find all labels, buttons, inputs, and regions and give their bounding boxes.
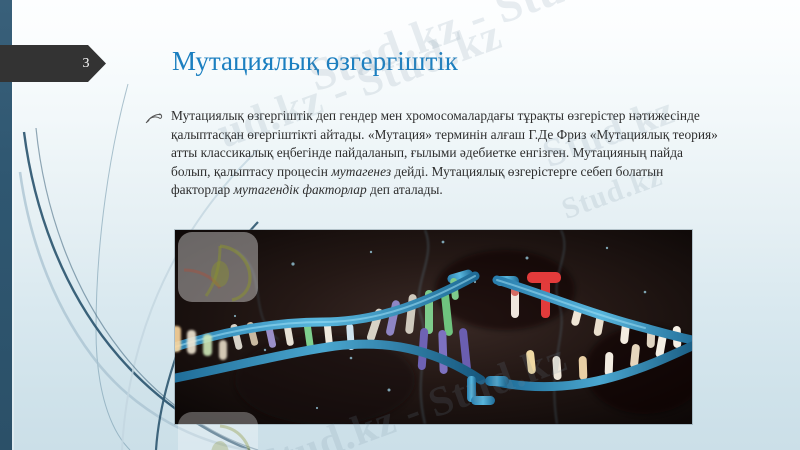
pennant-bullet-icon: [145, 110, 163, 124]
body-text-run: деп аталады.: [367, 182, 443, 197]
slide-title: Мутациялық өзгергіштік: [172, 44, 732, 78]
dna-illustration: [175, 230, 692, 424]
body-paragraph: Мутациялық өзгергіштік деп гендер мен хр…: [171, 107, 724, 200]
slide-body: Мутациялық өзгергіштік деп гендер мен хр…: [144, 107, 724, 200]
body-term-italic: мутагендік факторлар: [234, 182, 367, 197]
dna-image: Stud.kz - Stud.kz - Stud.kz - Stud.kz: [175, 230, 692, 424]
presentation-slide: 3 Мутациялық өзгергіштік Мутациялық өзге…: [0, 0, 800, 450]
body-term-italic: мутагенез: [331, 164, 391, 179]
bullet-row: Мутациялық өзгергіштік деп гендер мен хр…: [144, 107, 724, 200]
page-number-text: 3: [0, 45, 90, 82]
page-number-badge: 3: [0, 45, 107, 82]
